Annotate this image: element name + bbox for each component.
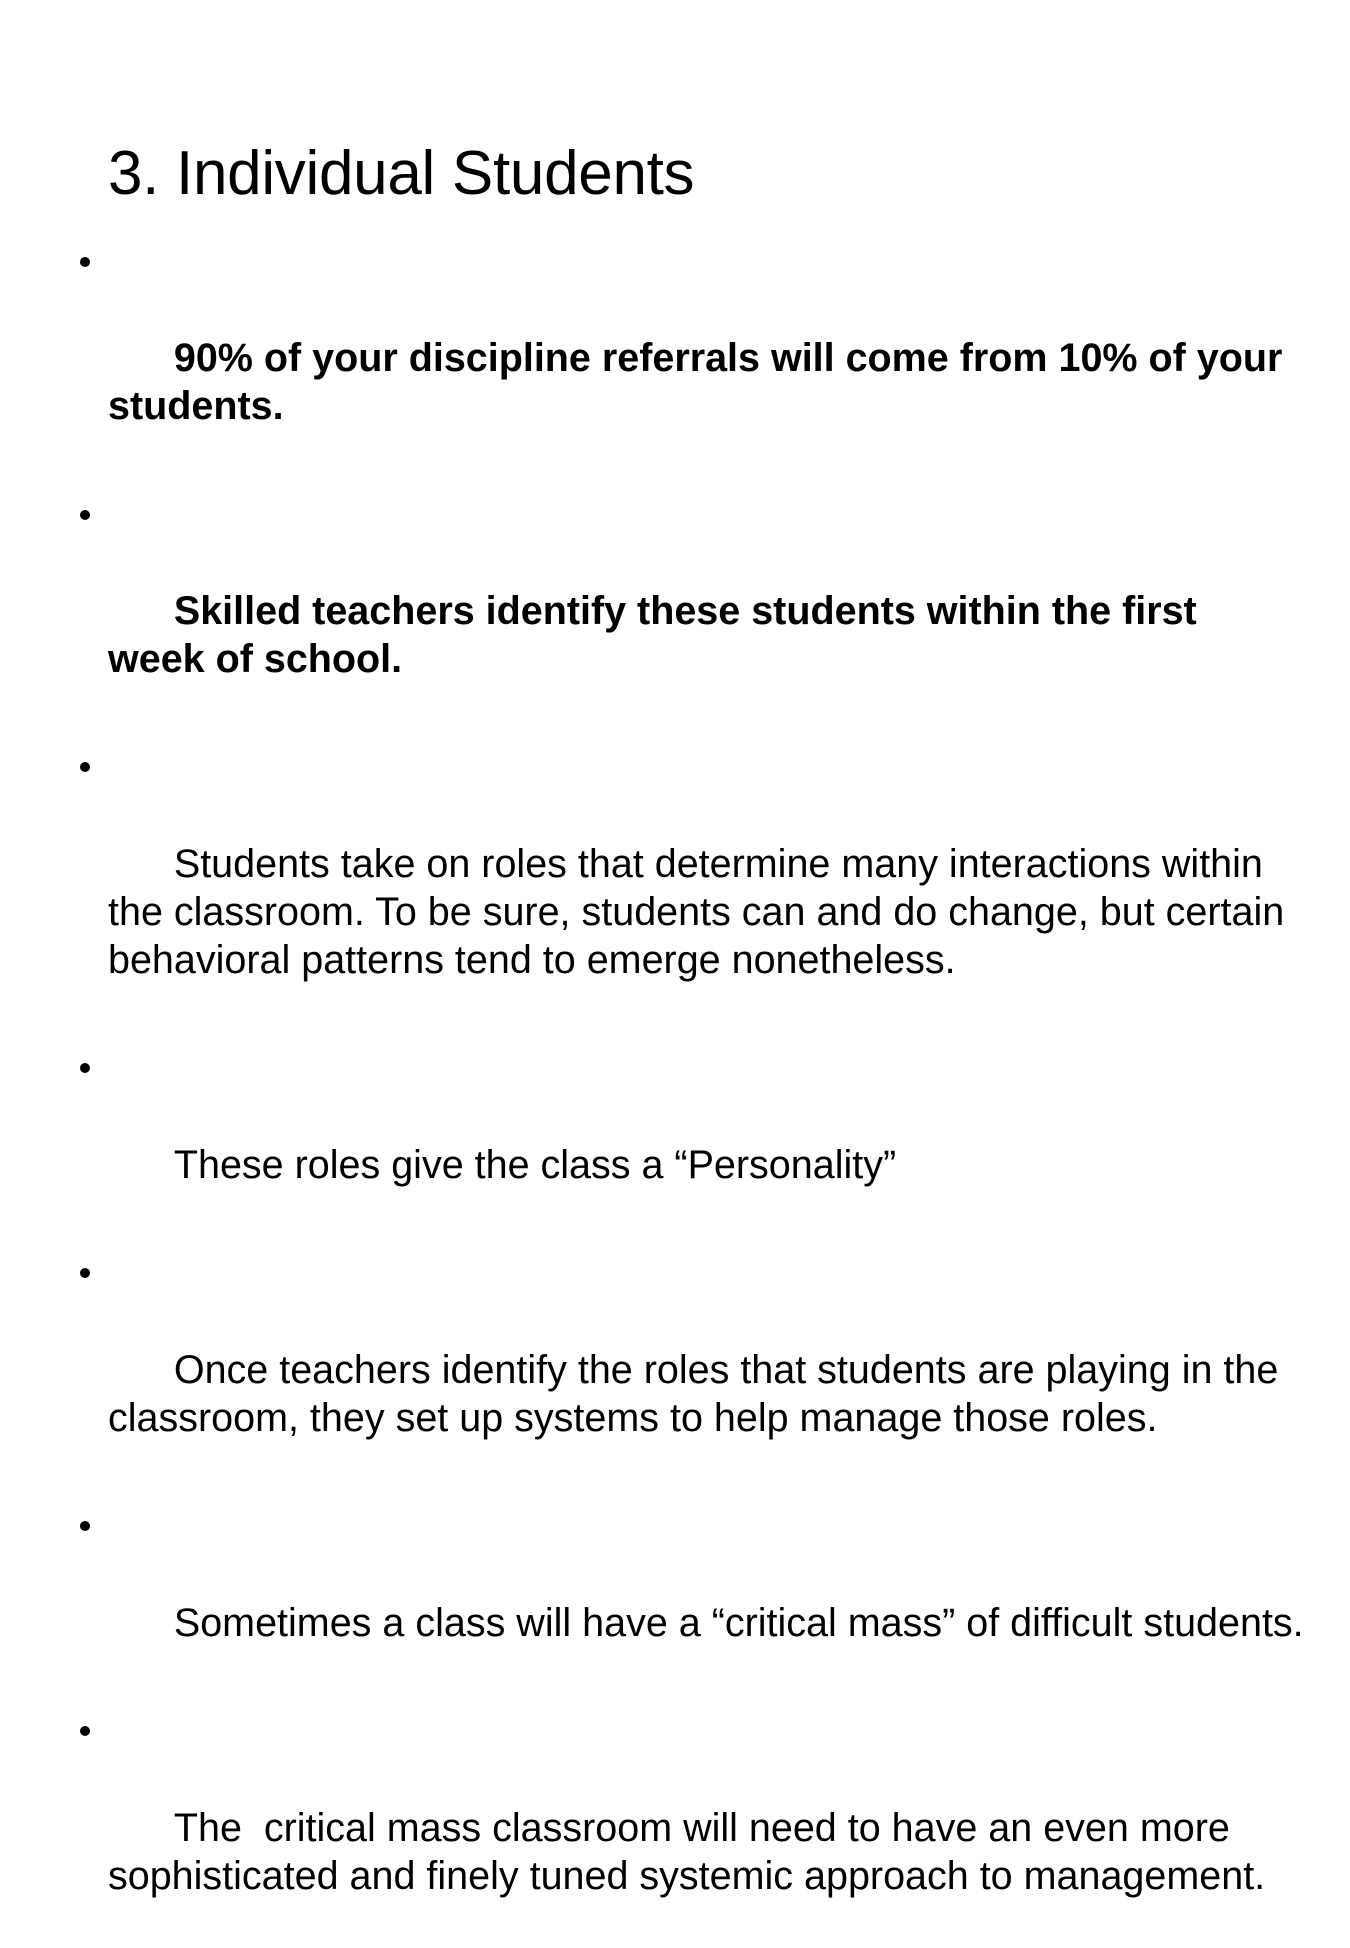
- bullet-point-icon: [80, 1521, 90, 1531]
- list-item-label: 90% of your discipline referrals will co…: [108, 336, 1293, 428]
- list-item: The critical mass classroom will need to…: [74, 1708, 1304, 1948]
- bullet-point-icon: [80, 510, 90, 520]
- bullet-list: 90% of your discipline referrals will co…: [74, 238, 1304, 1948]
- bullet-point-icon: [80, 762, 90, 772]
- list-item-label: Students take on roles that determine ma…: [108, 842, 1295, 982]
- page-title: 3. Individual Students: [108, 140, 1248, 208]
- list-item: These roles give the class a “Personalit…: [74, 1045, 1304, 1237]
- list-item-label: The critical mass classroom will need to…: [108, 1806, 1265, 1898]
- bullet-point-icon: [80, 257, 90, 267]
- bullet-point-icon: [80, 1726, 90, 1736]
- list-item: Once teachers identify the roles that st…: [74, 1250, 1304, 1490]
- bullet-point-icon: [80, 1063, 90, 1073]
- list-item: Students take on roles that determine ma…: [74, 744, 1304, 1032]
- list-item: Skilled teachers identify these students…: [74, 491, 1304, 731]
- list-item-label: These roles give the class a “Personalit…: [174, 1143, 896, 1187]
- list-item-label: Skilled teachers identify these students…: [108, 589, 1208, 681]
- list-item-label: Sometimes a class will have a “critical …: [174, 1601, 1304, 1645]
- list-item: 90% of your discipline referrals will co…: [74, 238, 1304, 478]
- list-item: Sometimes a class will have a “critical …: [74, 1503, 1304, 1695]
- bullet-point-icon: [80, 1268, 90, 1278]
- list-item-label: Once teachers identify the roles that st…: [108, 1348, 1289, 1440]
- presentation-slide: 3. Individual Students 90% of your disci…: [0, 0, 1350, 1012]
